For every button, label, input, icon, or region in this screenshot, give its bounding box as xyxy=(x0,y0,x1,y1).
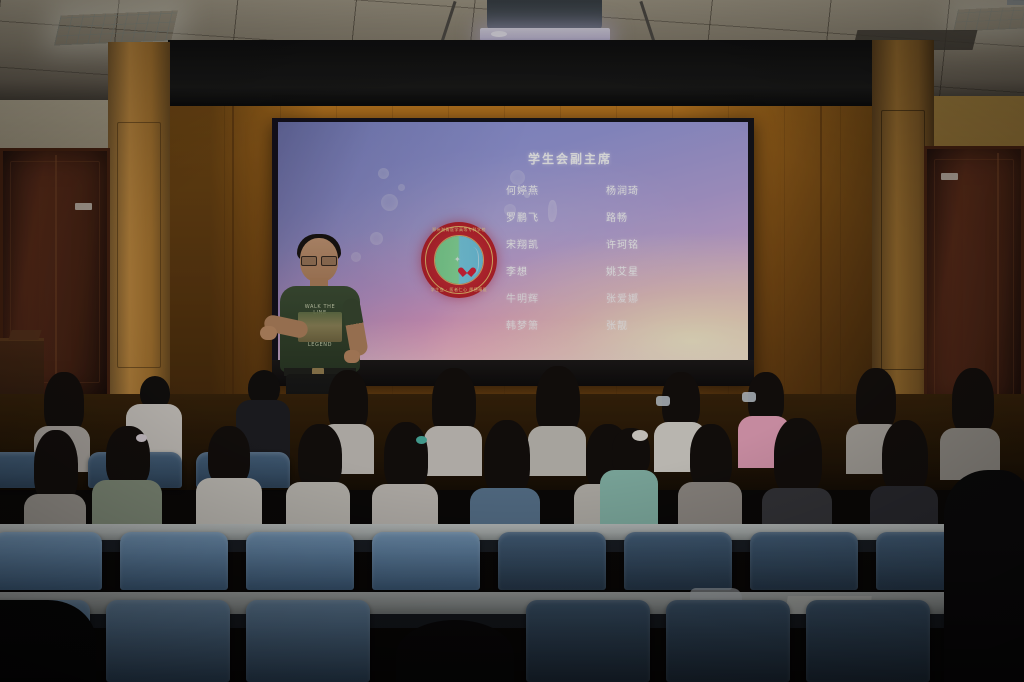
foreground-person-right xyxy=(944,470,1024,682)
emblem-heart-icon xyxy=(462,266,473,276)
podium-top xyxy=(8,330,41,340)
audience-member xyxy=(196,426,262,538)
face-mask xyxy=(656,396,670,406)
audience-member xyxy=(286,424,350,528)
name-cell: 宋翔凯 xyxy=(506,236,584,251)
auditorium-seat[interactable] xyxy=(372,532,480,590)
name-cell: 罗鹏飞 xyxy=(506,209,584,224)
foreground-person-left xyxy=(0,600,96,682)
bokeh-bubble xyxy=(381,194,398,211)
seat-row-2 xyxy=(0,532,1024,592)
hair-clip xyxy=(632,430,648,441)
audience-member xyxy=(762,418,832,538)
auditorium-seat[interactable] xyxy=(624,532,732,590)
name-cell: 何婷燕 xyxy=(506,182,584,197)
student-union-emblem: 郑州澍青医学高等专科学校 学生会 · 医者仁心 厚德精医 ✦ xyxy=(421,222,497,298)
emblem-star-icon: ✦ xyxy=(454,256,461,264)
glasses-icon xyxy=(301,256,337,264)
presenter-left-hand xyxy=(260,326,277,340)
auditorium-seat[interactable] xyxy=(750,532,858,590)
name-cell: 张爱娜 xyxy=(606,290,684,305)
audience-member xyxy=(24,430,86,538)
name-cell: 杨润琦 xyxy=(606,182,684,197)
name-cell: 许珂铭 xyxy=(606,236,684,251)
bokeh-bubble xyxy=(398,184,405,191)
audience-member xyxy=(600,428,658,524)
door-sign-left xyxy=(75,203,92,210)
hair-scrunchie xyxy=(416,436,427,444)
face-mask xyxy=(742,392,756,402)
door-sign-right xyxy=(941,173,958,180)
ceiling-projector xyxy=(487,0,602,30)
emblem-top-text: 郑州澍青医学高等专科学校 xyxy=(421,227,497,233)
lecture-hall-photo: 郑州澍青医学高等专科学校 学生会 · 医者仁心 厚德精医 ✦ 学生会副主席 何婷… xyxy=(0,0,1024,682)
auditorium-seat[interactable] xyxy=(666,600,790,682)
projector-brand-label xyxy=(1007,0,1024,5)
emblem-core: ✦ xyxy=(435,236,483,284)
name-cell: 路畅 xyxy=(606,209,684,224)
audience-member xyxy=(678,424,742,538)
audience-member xyxy=(870,420,938,538)
hair-clip xyxy=(136,434,147,442)
name-cell: 牛明辉 xyxy=(506,290,584,305)
audience-row-mid xyxy=(0,418,1024,538)
auditorium-seat[interactable] xyxy=(246,532,354,590)
shirt-print-line2: LEGEND xyxy=(298,342,342,348)
auditorium-seat[interactable] xyxy=(498,532,606,590)
audience-member xyxy=(470,420,540,538)
auditorium-seat[interactable] xyxy=(246,600,370,682)
stage-valance xyxy=(168,40,874,111)
slide-title: 学生会副主席 xyxy=(528,150,612,167)
foreground-head xyxy=(396,620,514,682)
wood-pillar-left xyxy=(108,42,170,394)
name-cell: 李想 xyxy=(506,263,584,278)
audience-member xyxy=(372,422,438,538)
vice-chair-name-grid: 何婷燕 杨润琦 罗鹏飞 路畅 宋翔凯 许珂铭 李想 姚艾星 牛明辉 张爱娜 韩梦… xyxy=(506,182,706,332)
bokeh-bubble xyxy=(378,168,389,179)
auditorium-seat[interactable] xyxy=(106,600,230,682)
auditorium-seat[interactable] xyxy=(526,600,650,682)
auditorium-seat[interactable] xyxy=(806,600,930,682)
emblem-bottom-text: 学生会 · 医者仁心 厚德精医 xyxy=(421,287,497,293)
auditorium-seat[interactable] xyxy=(0,532,102,590)
audience-member xyxy=(92,426,162,538)
auditorium-seat[interactable] xyxy=(120,532,228,590)
name-cell: 姚艾星 xyxy=(606,263,684,278)
